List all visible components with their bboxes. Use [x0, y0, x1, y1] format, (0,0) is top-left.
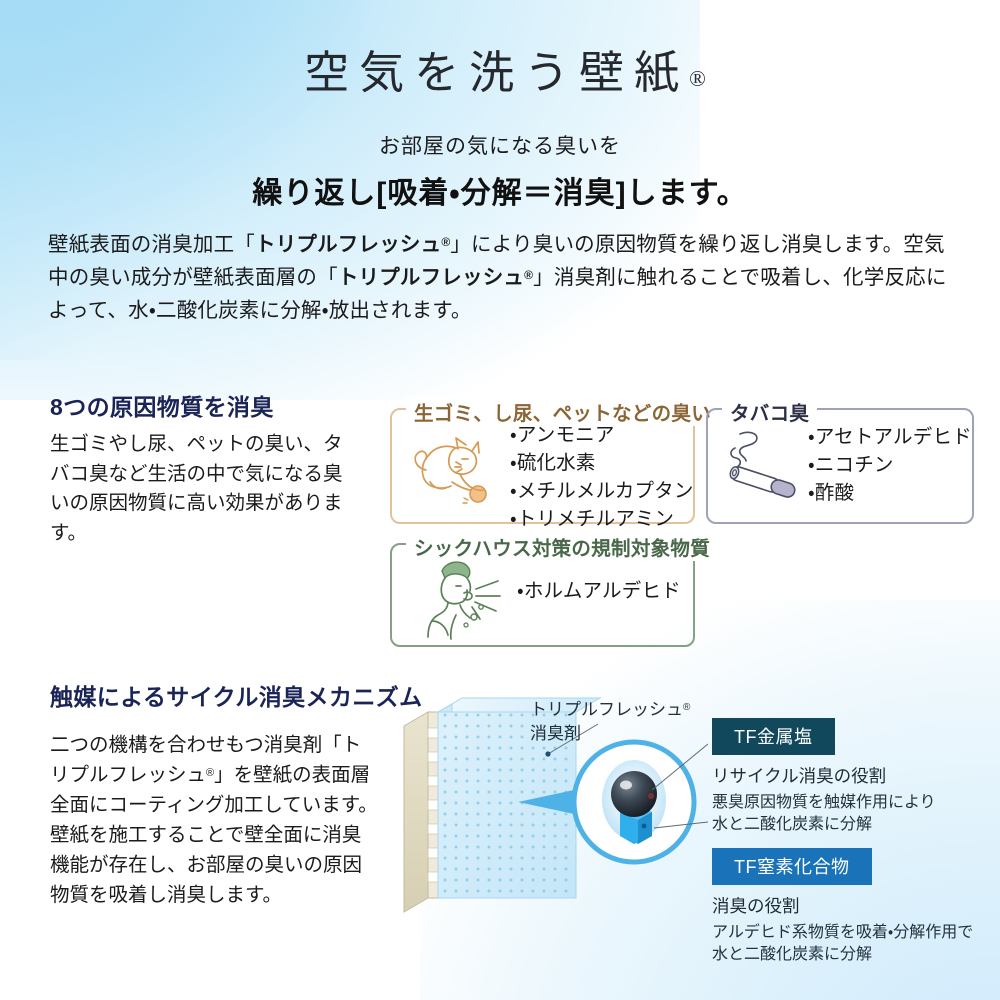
odor-box-household-waste: 生ゴミ、し尿、ペットなどの臭い: [390, 408, 695, 524]
subheading-line-1: お部屋の気になる臭いを: [0, 130, 1000, 160]
diagram-lead-label-line-2: 消臭剤: [530, 724, 581, 743]
cat-icon: [406, 426, 502, 515]
list-item: ・酢酸: [808, 479, 972, 507]
registered-mark-icon: ®: [689, 66, 706, 91]
list-item: ・ホルムアルデヒド: [517, 577, 681, 605]
odor-box-tobacco-list: ・アセトアルデヒド ・ニコチン ・酢酸: [808, 423, 972, 507]
page-title: 空気を洗う壁紙®: [0, 48, 1000, 100]
callout-tf-metal-salt-desc-line-2: 水と二酸化炭素に分解: [712, 814, 936, 837]
header: 空気を洗う壁紙® お部屋の気になる臭いを 繰り返し[吸着・分解＝消臭]します。: [0, 0, 1000, 212]
callout-tf-metal-salt-desc-line-1: 悪臭原因物質を触媒作用により: [712, 792, 936, 815]
page-title-text: 空気を洗う壁紙: [304, 48, 689, 98]
status-badge: TF金属塩: [712, 718, 835, 755]
section-1-heading: 8つの原因物質を消臭: [50, 388, 274, 422]
list-item: ・アセトアルデヒド: [808, 423, 972, 451]
list-item: ・アンモニア: [510, 421, 694, 449]
registered-mark-icon: ®: [206, 767, 214, 779]
diagram-lead-label: トリプルフレッシュ® 消臭剤: [530, 698, 690, 746]
diagram-lead-label-line-1: トリプルフレッシュ: [530, 700, 683, 719]
callout-tf-metal-salt-role: リサイクル消臭の役割: [712, 764, 936, 789]
odor-box-tobacco-label: タバコ臭: [722, 397, 817, 426]
list-item: ・ニコチン: [808, 451, 972, 479]
list-item: ・硫化水素: [510, 449, 694, 477]
odor-box-sick-house-list: ・ホルムアルデヒド: [517, 577, 681, 605]
list-item: ・トリメチルアミン: [510, 505, 694, 533]
section-2-heading: 触媒によるサイクル消臭メカニズム: [50, 678, 423, 712]
wall-backing-layer: [404, 712, 438, 912]
infographic-page: 空気を洗う壁紙® お部屋の気になる臭いを 繰り返し[吸着・分解＝消臭]します。 …: [0, 0, 1000, 1000]
odor-box-sick-house: シックハウス対策の規制対象物質: [390, 543, 695, 647]
callout-tf-nitrogen-compound-role: 消臭の役割: [712, 894, 973, 919]
registered-mark-icon: ®: [683, 702, 690, 713]
section-1-body: 生ゴミやし尿、ペットの臭い、タバコ臭など生活の中で気になる臭いの原因物質に高い効…: [50, 430, 360, 549]
intro-brand-1: トリプルフレッシュ: [255, 233, 441, 256]
cigarette-icon: [720, 426, 806, 511]
coughing-person-icon: [418, 555, 502, 646]
intro-brand-2: トリプルフレッシュ: [338, 266, 524, 289]
subheading-line-2: 繰り返し[吸着・分解＝消臭]します。: [0, 168, 1000, 212]
callout-tf-metal-salt: TF金属塩 リサイクル消臭の役割 悪臭原因物質を触媒作用により 水と二酸化炭素に…: [712, 718, 936, 837]
registered-mark-icon: ®: [524, 268, 533, 282]
status-badge: TF窒素化合物: [712, 848, 872, 885]
odor-box-tobacco: タバコ臭 ・アセトアルデヒド ・ニコチン ・酢酸: [706, 408, 974, 524]
list-item: ・メチルメルカプタン: [510, 477, 694, 505]
odor-box-household-waste-list: ・アンモニア ・硫化水素 ・メチルメルカプタン ・トリメチルアミン: [510, 421, 694, 533]
intro-text-part-1: 壁紙表面の消臭加工「: [48, 233, 255, 256]
section-2-body: 二つの機構を合わせもつ消臭剤「トリプルフレッシュ®」を壁紙の表面層全面にコーティ…: [50, 730, 380, 910]
callout-tf-nitrogen-compound: TF窒素化合物 消臭の役割 アルデヒド系物質を吸着・分解作用で 水と二酸化炭素に…: [712, 848, 973, 967]
intro-paragraph: 壁紙表面の消臭加工「トリプルフレッシュ®」により臭いの原因物質を繰り返し消臭しま…: [48, 228, 954, 328]
callout-tf-nitrogen-compound-desc-line-2: 水と二酸化炭素に分解: [712, 944, 973, 967]
molecule-sphere-icon: [611, 771, 657, 817]
callout-tf-nitrogen-compound-desc-line-1: アルデヒド系物質を吸着・分解作用で: [712, 922, 973, 945]
registered-mark-icon: ®: [441, 235, 450, 249]
